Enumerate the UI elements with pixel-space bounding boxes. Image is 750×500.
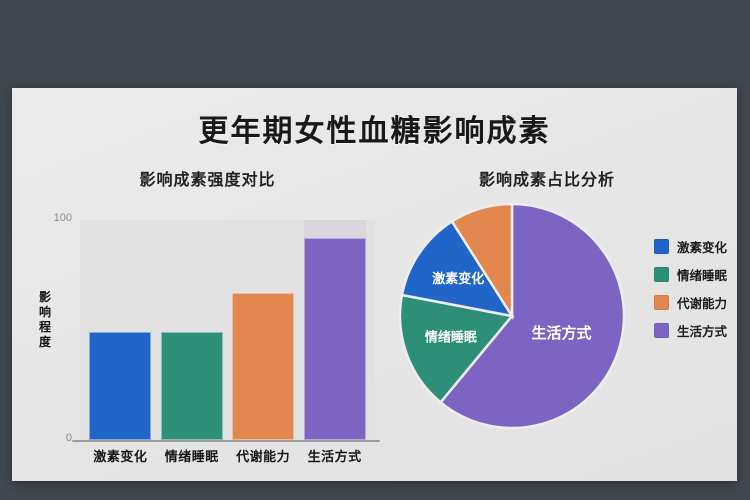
y-axis-tick-max: 100 [38,212,72,224]
slide-card: 更年期女性血糖影响成素 影响成素强度对比 影响成素占比分析 100 0 影响程度… [12,88,737,481]
x-axis-tick-label: 生活方式 [291,446,379,465]
legend-item[interactable]: 生活方式 [654,318,746,342]
pie-chart-subtitle: 影响成素占比分析 [397,166,697,190]
bar-4[interactable] [304,238,366,440]
pie-svg: 生活方式情绪睡眠激素变化 [398,202,626,430]
legend-swatch-icon [654,239,669,254]
y-axis-label: 影响程度 [36,290,54,350]
y-axis-tick-min: 0 [38,432,72,444]
legend-item-label: 生活方式 [677,321,727,340]
pie-legend: 激素变化情绪睡眠代谢能力生活方式 [654,234,746,346]
legend-swatch-icon [654,295,669,310]
bar-slot[interactable] [232,220,294,440]
legend-item[interactable]: 代谢能力 [654,290,746,314]
pie-chart: 生活方式情绪睡眠激素变化 激素变化情绪睡眠代谢能力生活方式 [390,196,735,468]
legend-swatch-icon [654,323,669,338]
legend-item-label: 代谢能力 [677,293,727,312]
bar-1[interactable] [89,332,151,440]
screenshot-root: 更年期女性血糖影响成素 影响成素强度对比 影响成素占比分析 100 0 影响程度… [0,0,750,500]
bar-slot[interactable] [161,220,223,440]
legend-swatch-icon [654,267,669,282]
pie-slice-label: 情绪睡眠 [425,329,477,344]
bar-2[interactable] [161,332,223,440]
x-axis-line [72,440,380,442]
bar-chart-subtitle: 影响成素强度对比 [30,166,385,190]
pie-slice-label: 激素变化 [432,271,484,286]
legend-item[interactable]: 激素变化 [654,234,746,258]
legend-item-label: 激素变化 [677,237,727,256]
pie-slice-label: 生活方式 [531,324,591,342]
page-title: 更年期女性血糖影响成素 [12,106,737,150]
bar-slot[interactable] [304,220,366,440]
bar-series [80,220,375,440]
bar-3[interactable] [232,293,294,440]
bar-slot[interactable] [89,220,151,440]
pie-graphic: 生活方式情绪睡眠激素变化 [398,202,626,430]
legend-item-label: 情绪睡眠 [677,265,727,284]
bar-chart: 100 0 影响程度 激素变化情绪睡眠代谢能力生活方式 [20,198,390,468]
legend-item[interactable]: 情绪睡眠 [654,262,746,286]
